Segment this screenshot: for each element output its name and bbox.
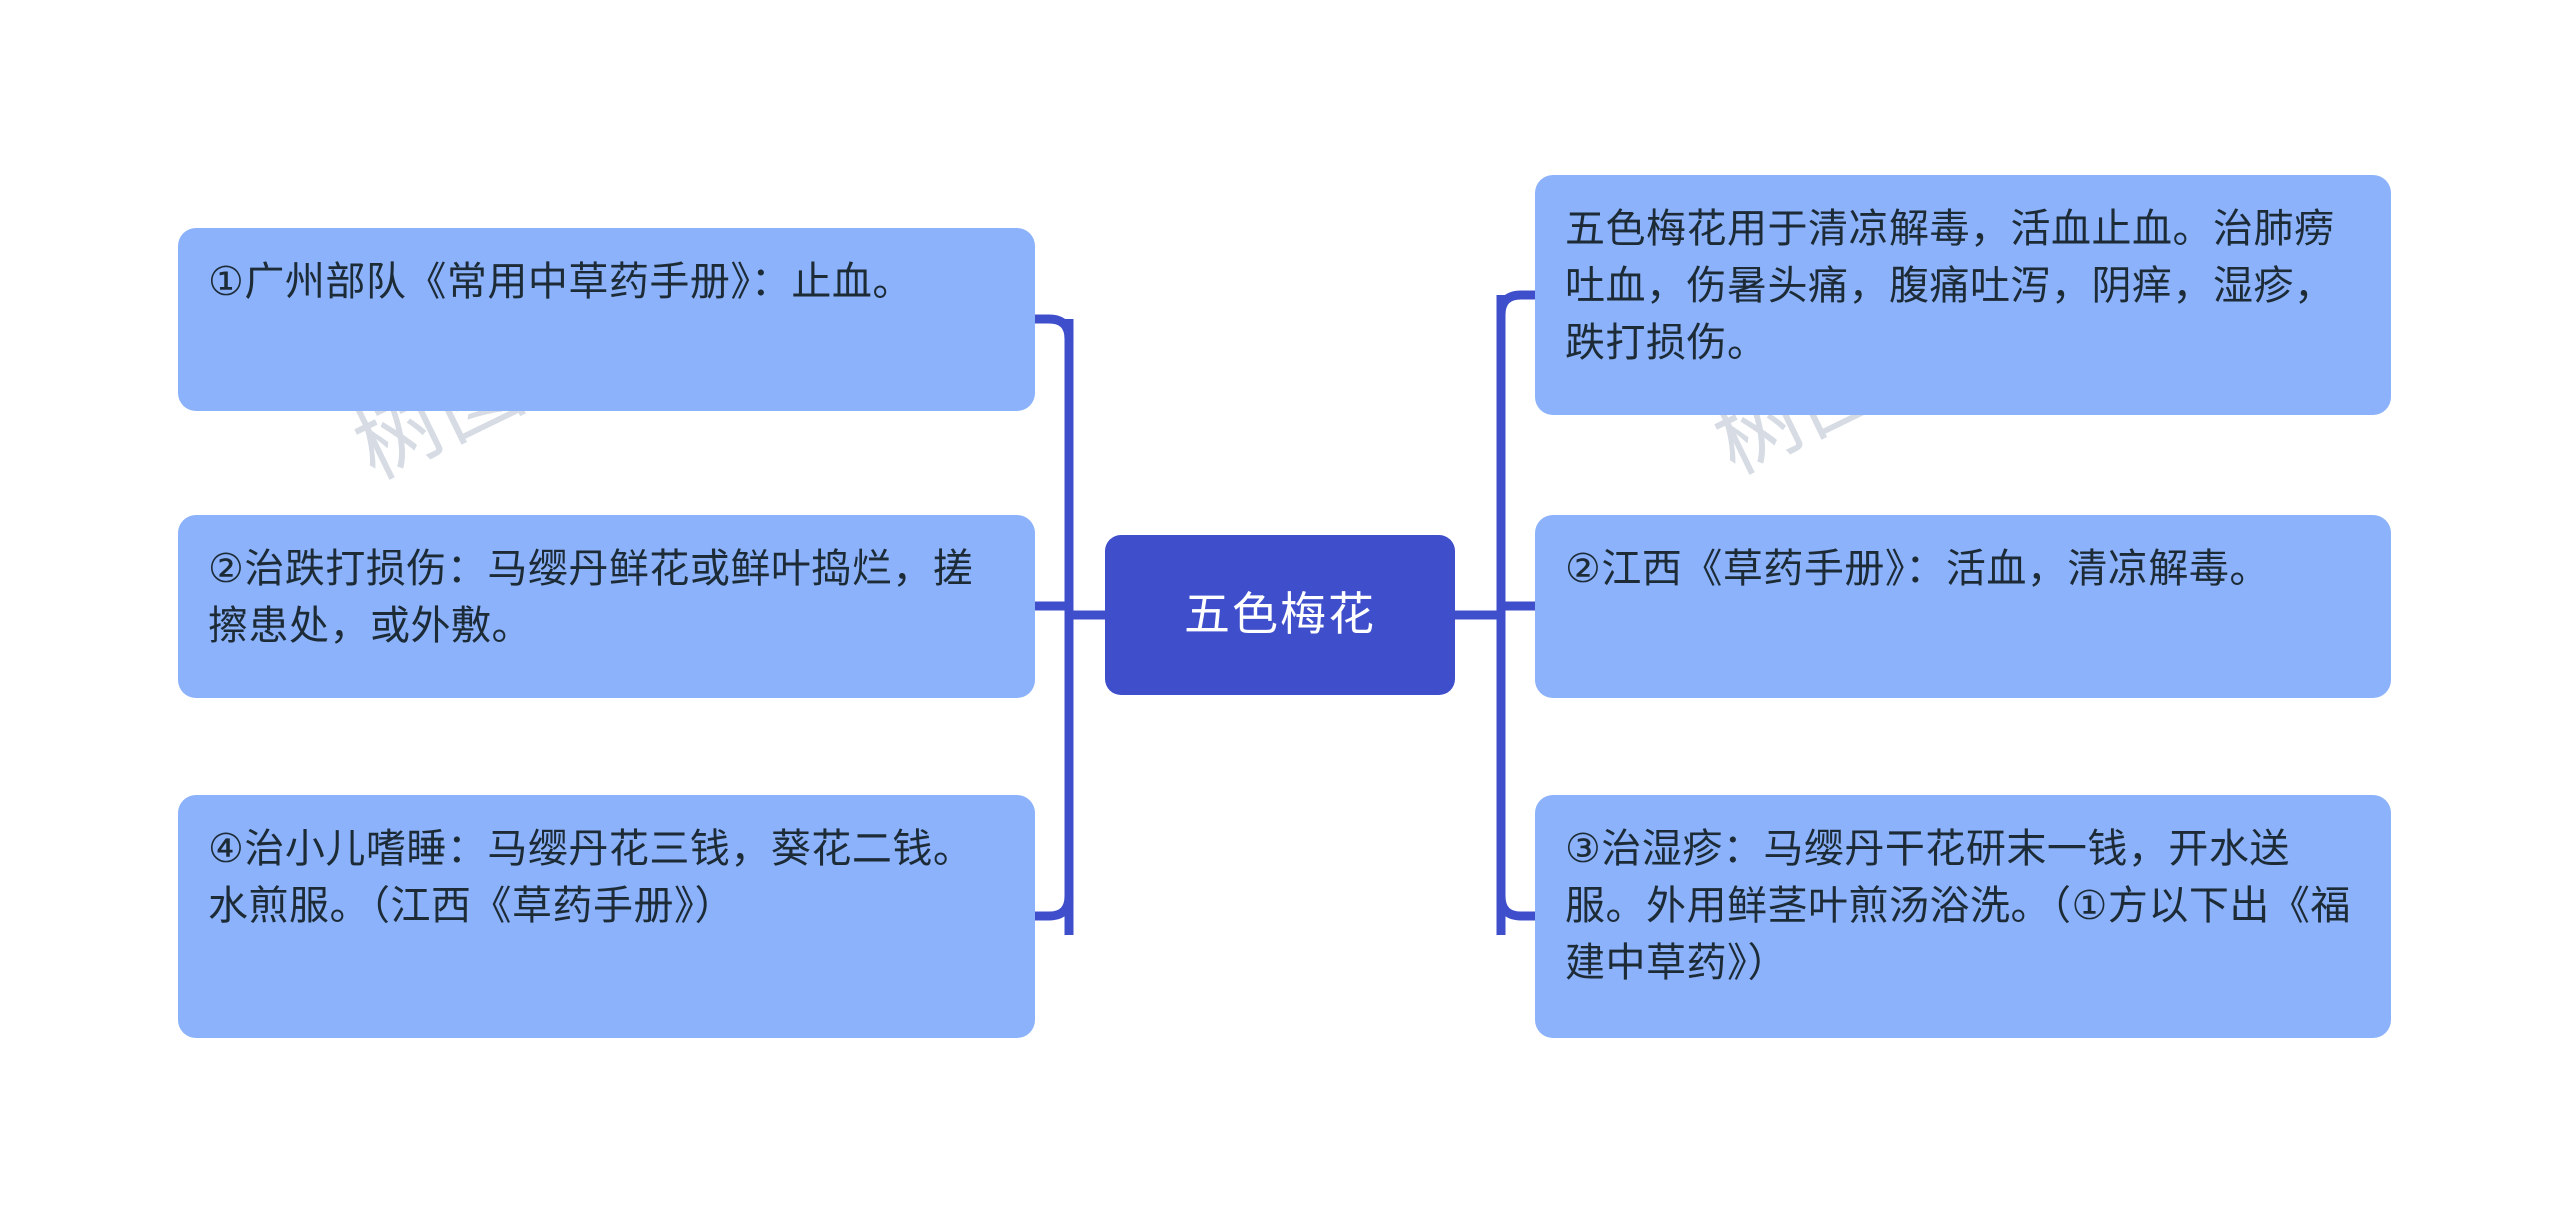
connector-left-3 bbox=[1035, 896, 1069, 916]
connector-right-3 bbox=[1501, 896, 1535, 916]
mindmap-canvas: 树图shutu.cn 树图shutu.cn ①广州部队《常用中草药手册》：止血。… bbox=[0, 0, 2560, 1228]
branch-node-right-2[interactable]: ②江西《草药手册》：活血，清凉解毒。 bbox=[1535, 515, 2391, 698]
branch-node-right-3[interactable]: ③治湿疹：马缨丹干花研末一钱，开水送服。外用鲜茎叶煎汤浴洗。（①方以下出《福建中… bbox=[1535, 795, 2391, 1038]
branch-node-left-2[interactable]: ②治跌打损伤：马缨丹鲜花或鲜叶捣烂，搓擦患处，或外敷。 bbox=[178, 515, 1035, 698]
root-node[interactable]: 五色梅花 bbox=[1105, 535, 1455, 695]
connector-left-1 bbox=[1035, 319, 1069, 339]
connector-right-1 bbox=[1501, 295, 1535, 315]
branch-node-right-1[interactable]: 五色梅花用于清凉解毒，活血止血。治肺痨吐血，伤暑头痛，腹痛吐泻，阴痒，湿疹，跌打… bbox=[1535, 175, 2391, 415]
branch-node-left-1[interactable]: ①广州部队《常用中草药手册》：止血。 bbox=[178, 228, 1035, 411]
branch-node-left-3[interactable]: ④治小儿嗜睡：马缨丹花三钱，葵花二钱。水煎服。（江西《草药手册》） bbox=[178, 795, 1035, 1038]
